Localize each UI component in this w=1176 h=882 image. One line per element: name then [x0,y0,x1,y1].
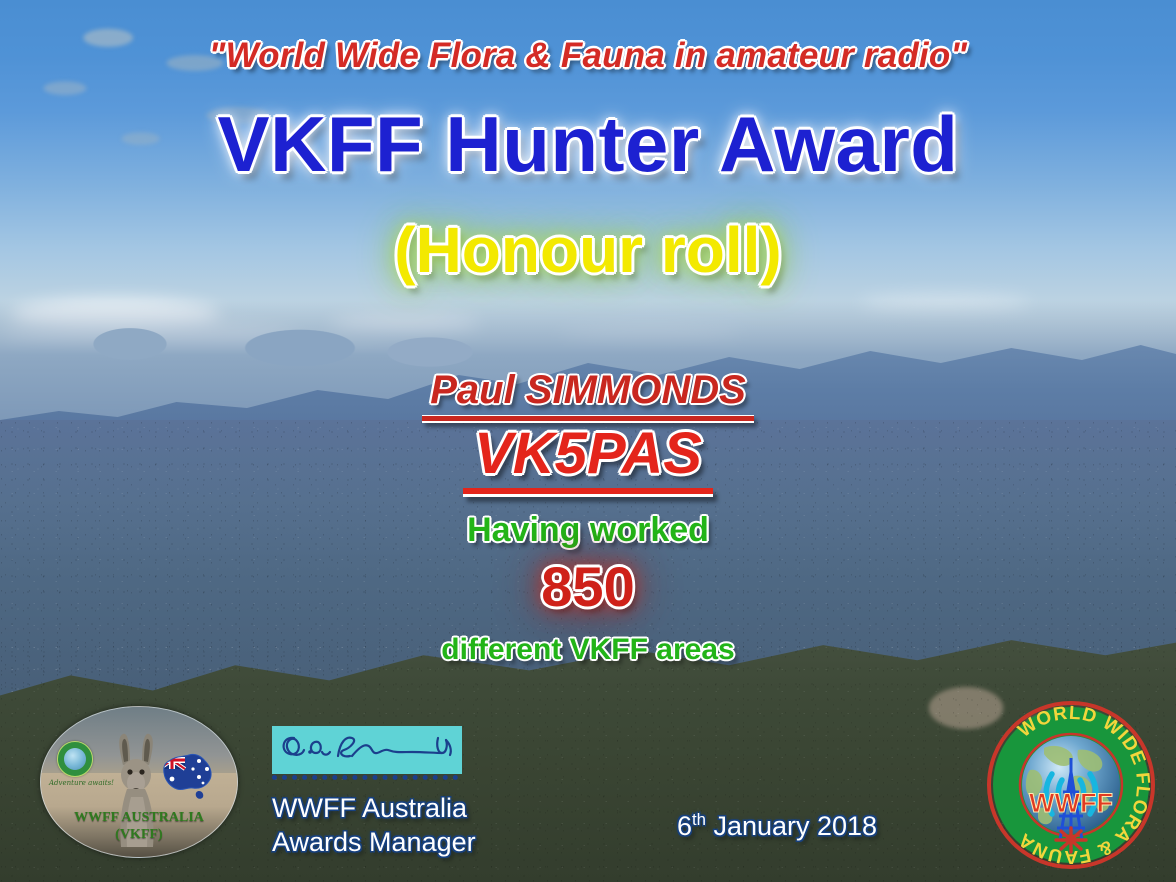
tagline: "World Wide Flora & Fauna in amateur rad… [0,36,1176,76]
wwff-australia-badge: Adventure awaits! [40,706,238,858]
signatory-title: WWFF Australia Awards Manager [272,791,572,860]
award-subtitle: (Honour roll) [0,218,1176,282]
signature-block: WWFF Australia Awards Manager [272,726,572,860]
badge-script-text: Adventure awaits! [49,779,123,787]
areas-label: different VKFF areas [0,633,1176,667]
recipient-name-text: Paul SIMMONDS [430,368,746,412]
recipient-name: Paul SIMMONDS [0,368,1176,423]
australia-map-icon [155,747,219,803]
award-certificate: "World Wide Flora & Fauna in amateur rad… [0,0,1176,882]
signatory-line-2: Awards Manager [272,825,572,859]
logo-center-text: WWFF [1029,788,1113,818]
callsign-underline [463,488,713,497]
signatory-line-1: WWFF Australia [272,791,572,825]
date-ordinal-suffix: th [692,810,706,829]
wwff-logo: WORLD WIDE FLORA & FAUNA WWFF [986,700,1156,870]
date-month-year: January 2018 [706,811,877,841]
signature-image [272,726,462,774]
page-title: VKFF Hunter Award [0,105,1176,183]
signature-rule [272,775,458,780]
issue-date: 6th January 2018 [612,810,942,842]
badge-caption: WWFF AUSTRALIA (VKFF) [41,809,237,843]
callsign: VK5PAS [0,420,1176,497]
callsign-text: VK5PAS [474,421,702,486]
date-day: 6 [677,811,692,841]
badge-caption-line-1: WWFF AUSTRALIA [41,809,237,826]
mini-wwff-roundel-icon [57,741,93,777]
worked-count: 850 [0,558,1176,617]
worked-label: Having worked [0,511,1176,550]
badge-caption-line-2: (VKFF) [41,826,237,843]
